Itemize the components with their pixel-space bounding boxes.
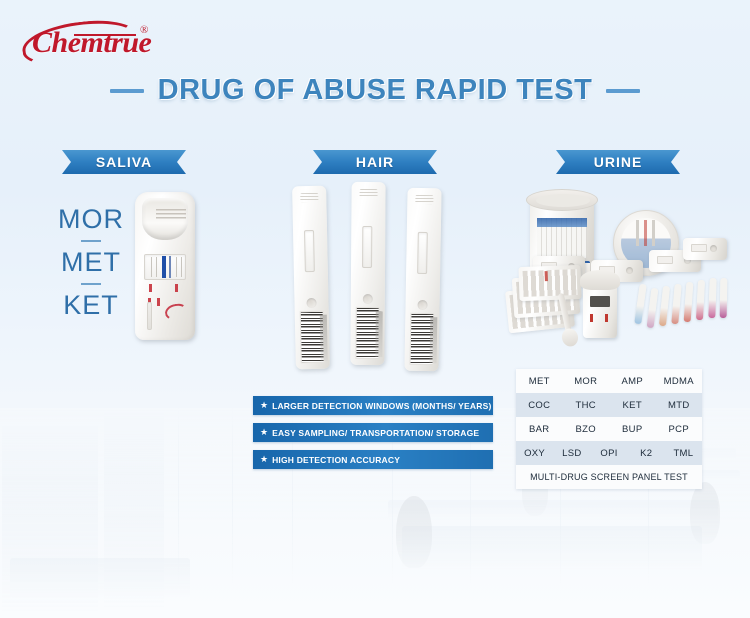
panel-cell: TML <box>665 448 702 459</box>
dip-strip <box>634 284 646 325</box>
panel-cell: AMP <box>609 376 656 387</box>
table-row: OXY LSD OPI K2 TML <box>516 441 702 465</box>
title-dash-right <box>606 89 640 93</box>
section-banner-saliva-label: SALIVA <box>96 154 152 170</box>
product-banner-page: Chemtrue ® DRUG OF ABUSE RAPID TEST SALI… <box>0 0 750 618</box>
table-row: BAR BZO BUP PCP <box>516 417 702 441</box>
panel-cell: MTD <box>656 400 703 411</box>
brand-name: Chemtrue <box>32 26 151 60</box>
feature-bar-3-label: HIGH DETECTION ACCURACY <box>272 455 400 465</box>
urine-products-image <box>505 188 730 353</box>
section-banner-hair-label: HAIR <box>356 154 394 170</box>
hair-test-strip <box>404 188 441 372</box>
urine-test-cassette <box>683 238 727 260</box>
feature-bar-1: ★ LARGER DETECTION WINDOWS (MONTHS/ YEAR… <box>253 396 493 415</box>
saliva-analyte-list: MOR MET KET <box>52 204 130 321</box>
dip-strip <box>708 278 716 318</box>
hair-strip-sample-hole <box>417 300 427 310</box>
saliva-analyte-met: MET <box>61 247 121 278</box>
saliva-analyte-mor: MOR <box>58 204 124 235</box>
panel-cell: BUP <box>609 424 656 435</box>
title-dash-left <box>110 89 144 93</box>
feature-bar-3: ★ HIGH DETECTION ACCURACY <box>253 450 493 469</box>
cassette-well-texture <box>156 209 186 219</box>
hair-strip-result-window <box>362 226 372 268</box>
dip-strip <box>659 286 670 327</box>
panel-cell: OXY <box>516 448 553 459</box>
dip-strip <box>647 288 659 329</box>
star-icon: ★ <box>260 428 268 437</box>
dip-strip <box>671 284 681 324</box>
hair-test-strip <box>292 186 330 370</box>
feature-bar-2-label: EASY SAMPLING/ TRANSPORTATION/ STORAGE <box>272 428 479 438</box>
star-icon: ★ <box>260 401 268 410</box>
registered-mark: ® <box>140 24 148 36</box>
dip-strip <box>720 278 728 318</box>
cassette-sample-well <box>142 198 188 240</box>
dip-strip <box>696 280 705 320</box>
saliva-test-cassette-image <box>135 192 195 340</box>
section-banner-saliva: SALIVA <box>62 150 186 174</box>
panel-cell: KET <box>609 400 656 411</box>
panel-cell: BAR <box>516 424 563 435</box>
hair-strip-sample-hole <box>306 298 316 308</box>
page-title-text: DRUG OF ABUSE RAPID TEST <box>158 74 593 107</box>
saliva-analyte-separator <box>81 240 101 242</box>
panel-cell: MOR <box>563 376 610 387</box>
panel-cell: LSD <box>553 448 590 459</box>
section-banner-hair: HAIR <box>313 150 437 174</box>
panel-cell: PCP <box>656 424 703 435</box>
saliva-analyte-separator <box>81 283 101 285</box>
panel-cell: BZO <box>563 424 610 435</box>
panel-cell: K2 <box>628 448 665 459</box>
table-row: MET MOR AMP MDMA <box>516 369 702 393</box>
section-banner-urine-label: URINE <box>594 154 643 170</box>
section-banner-urine: URINE <box>556 150 680 174</box>
panel-cell: COC <box>516 400 563 411</box>
saliva-reader-device <box>583 280 617 338</box>
multi-panel-card <box>518 265 581 301</box>
dip-strip <box>684 282 694 322</box>
hair-feature-list: ★ LARGER DETECTION WINDOWS (MONTHS/ YEAR… <box>253 396 493 477</box>
saliva-analyte-ket: KET <box>63 290 119 321</box>
brand-logo: Chemtrue ® <box>14 22 164 68</box>
panel-cell: THC <box>563 400 610 411</box>
page-title: DRUG OF ABUSE RAPID TEST <box>0 74 750 107</box>
star-icon: ★ <box>260 455 268 464</box>
feature-bar-2: ★ EASY SAMPLING/ TRANSPORTATION/ STORAGE <box>253 423 493 442</box>
hair-strip-result-window <box>417 232 428 274</box>
cassette-result-window <box>144 254 186 280</box>
feature-bar-1-label: LARGER DETECTION WINDOWS (MONTHS/ YEARS) <box>272 401 491 411</box>
hair-test-strip <box>350 182 385 365</box>
cassette-brand-mark-icon <box>164 303 188 322</box>
panel-cell: MET <box>516 376 563 387</box>
hair-strip-result-window <box>304 230 315 272</box>
panel-footer-label: MULTI-DRUG SCREEN PANEL TEST <box>516 465 702 489</box>
panel-cell: OPI <box>590 448 627 459</box>
hair-strip-sample-hole <box>363 294 373 304</box>
cassette-strip-slot <box>147 302 152 330</box>
panel-cell: MDMA <box>656 376 703 387</box>
multi-drug-panel-table: MET MOR AMP MDMA COC THC KET MTD BAR BZO… <box>516 369 702 489</box>
table-row: COC THC KET MTD <box>516 393 702 417</box>
